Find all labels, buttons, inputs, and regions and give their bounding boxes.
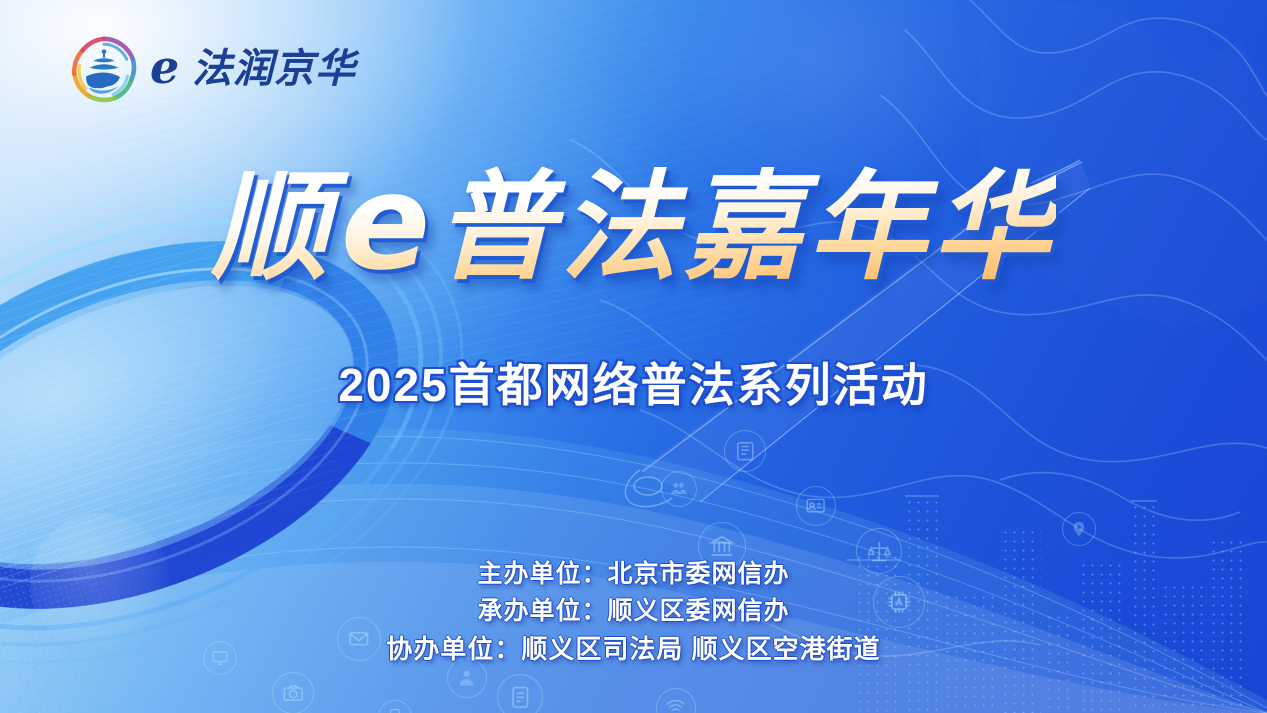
main-title-part2: 普法嘉年华 <box>436 157 1056 296</box>
subtitle: 2025首都网络普法系列活动 <box>0 349 1267 415</box>
organizer-support: 协办单位：顺义区司法局 顺义区空港街道 <box>0 630 1267 668</box>
brand-wordmark: e 法润京华 <box>150 36 380 98</box>
document-icon <box>497 674 543 713</box>
main-title-block: 顺e普法嘉年华 <box>0 152 1267 295</box>
location-pin-icon <box>1062 512 1096 546</box>
poster-canvas: e 法润京华 顺e普法嘉年华 2025首都网络普法系列活动 主办单位：北京市委网… <box>0 0 1267 713</box>
phone-icon <box>378 700 412 713</box>
svg-text:e: e <box>150 40 179 94</box>
organizer-host: 主办单位：北京市委网信办 <box>0 556 1267 593</box>
organizer-block: 主办单位：北京市委网信办 承办单位：顺义区委网信办 协办单位：顺义区司法局 顺义… <box>0 556 1267 668</box>
book-study-icon <box>724 430 766 472</box>
main-title-part1: 顺 <box>211 157 335 296</box>
main-title: 顺e普法嘉年华 <box>211 152 1057 295</box>
brand-logo[interactable]: e 法润京华 <box>66 30 378 108</box>
brand-wordmark-text: 法润京华 <box>192 45 360 92</box>
wifi-signal-icon <box>656 688 696 713</box>
e-fa-run-jinghua-emblem <box>66 32 142 108</box>
people-group-icon <box>661 471 697 507</box>
main-title-e-glyph: e <box>335 146 437 300</box>
organizer-operator: 承办单位：顺义区委网信办 <box>0 593 1267 630</box>
id-card-icon <box>796 486 836 526</box>
camera-icon <box>272 672 314 713</box>
